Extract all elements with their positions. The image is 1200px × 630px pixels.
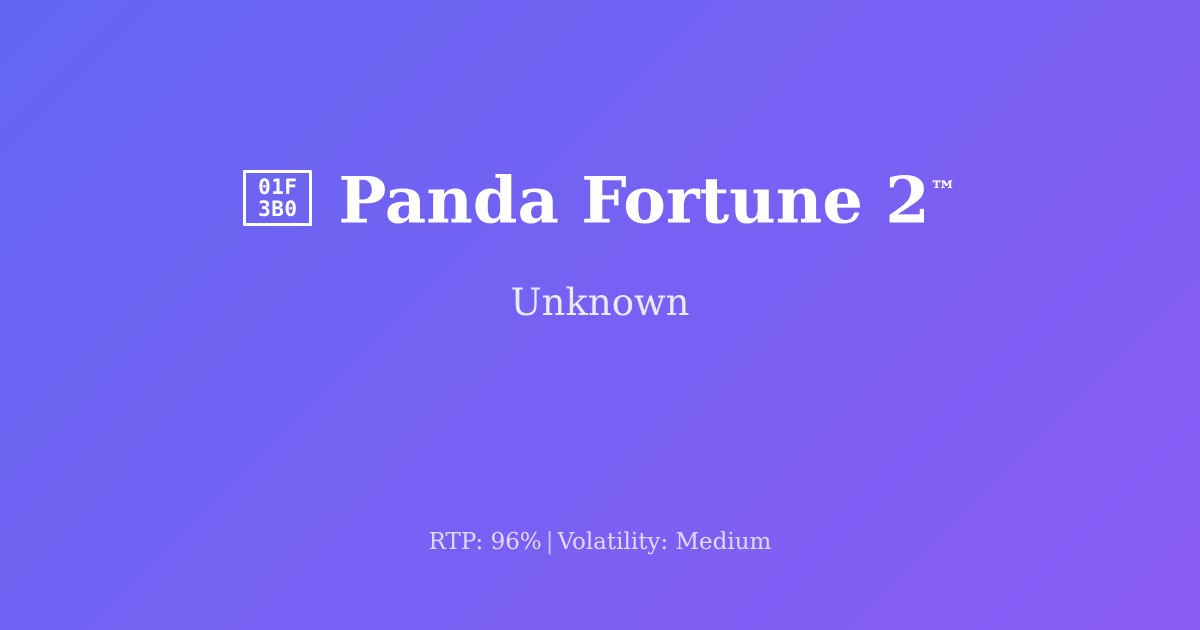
trademark-symbol: ™ (930, 176, 957, 207)
slot-machine-icon: 01F 3B0 (243, 170, 312, 226)
tofu-codepoint-bottom: 3B0 (258, 198, 297, 220)
volatility-stat: Volatility: Medium (557, 529, 771, 555)
rtp-stat: RTP: 96% (429, 529, 542, 555)
meta-separator: | (542, 529, 558, 555)
hero-block: 01F 3B0 Panda Fortune 2™ Unknown (0, 0, 1200, 500)
page-title-text: Panda Fortune 2 (338, 164, 929, 239)
title-row: 01F 3B0 Panda Fortune 2™ (243, 157, 956, 236)
page-title: Panda Fortune 2™ (338, 157, 956, 236)
subtitle: Unknown (510, 281, 689, 325)
og-share-card: 01F 3B0 Panda Fortune 2™ Unknown RTP: 96… (0, 0, 1200, 630)
tofu-codepoint-top: 01F (258, 176, 297, 198)
meta-line: RTP: 96%|Volatility: Medium (0, 528, 1200, 556)
